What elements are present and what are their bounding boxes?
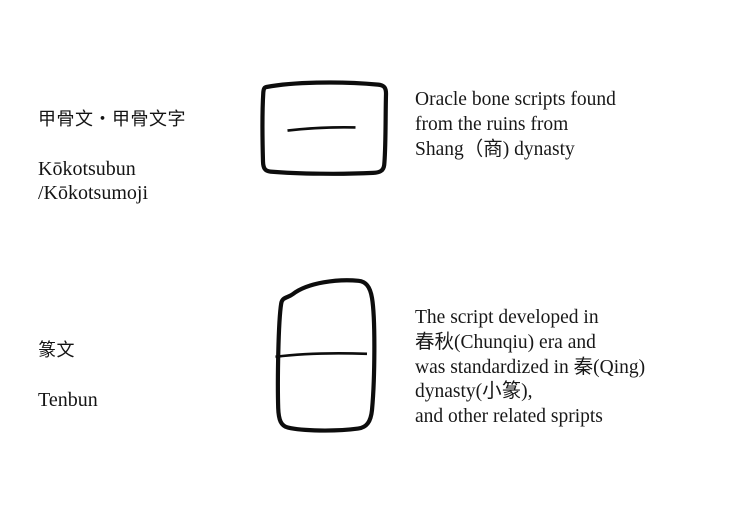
glyph-column [250,70,400,190]
script-name-seal-script: 篆文 Tenbun [38,315,253,437]
description-line: and other related spripts [415,405,727,430]
description-line: Oracle bone scripts found [415,88,727,113]
description-line: Shang（商) dynasty [415,138,727,163]
script-description-seal-script: The script developed in 春秋(Chunqiu) era … [415,306,727,430]
description-line: dynasty(小篆), [415,380,727,405]
script-name-cjk: 甲骨文・甲骨文字 [38,108,253,132]
script-description-oracle-bone: Oracle bone scripts found from the ruins… [415,88,727,162]
seal-script-tall-rectangle-glyph-icon [250,270,400,445]
script-entry-oracle-bone: 甲骨文・甲骨文字 Kōkotsubun /Kōkotsumoji Oracle … [0,70,730,190]
description-line: was standardized in 秦(Qing) [415,356,727,381]
description-line: The script developed in [415,306,727,331]
description-line: 春秋(Chunqiu) era and [415,331,727,356]
script-entry-seal-script: 篆文 Tenbun The script developed in 春秋(Chu… [0,270,730,440]
glyph-column [250,270,400,440]
script-name-oracle-bone: 甲骨文・甲骨文字 Kōkotsubun /Kōkotsumoji [38,84,253,230]
script-name-romaji: Tenbun [38,388,253,412]
slide-canvas: 甲骨文・甲骨文字 Kōkotsubun /Kōkotsumoji Oracle … [0,0,730,515]
script-name-romaji: Kōkotsubun /Kōkotsumoji [38,157,253,206]
description-line: from the ruins from [415,113,727,138]
script-name-cjk: 篆文 [38,339,253,363]
oracle-bone-square-glyph-icon [250,70,400,190]
